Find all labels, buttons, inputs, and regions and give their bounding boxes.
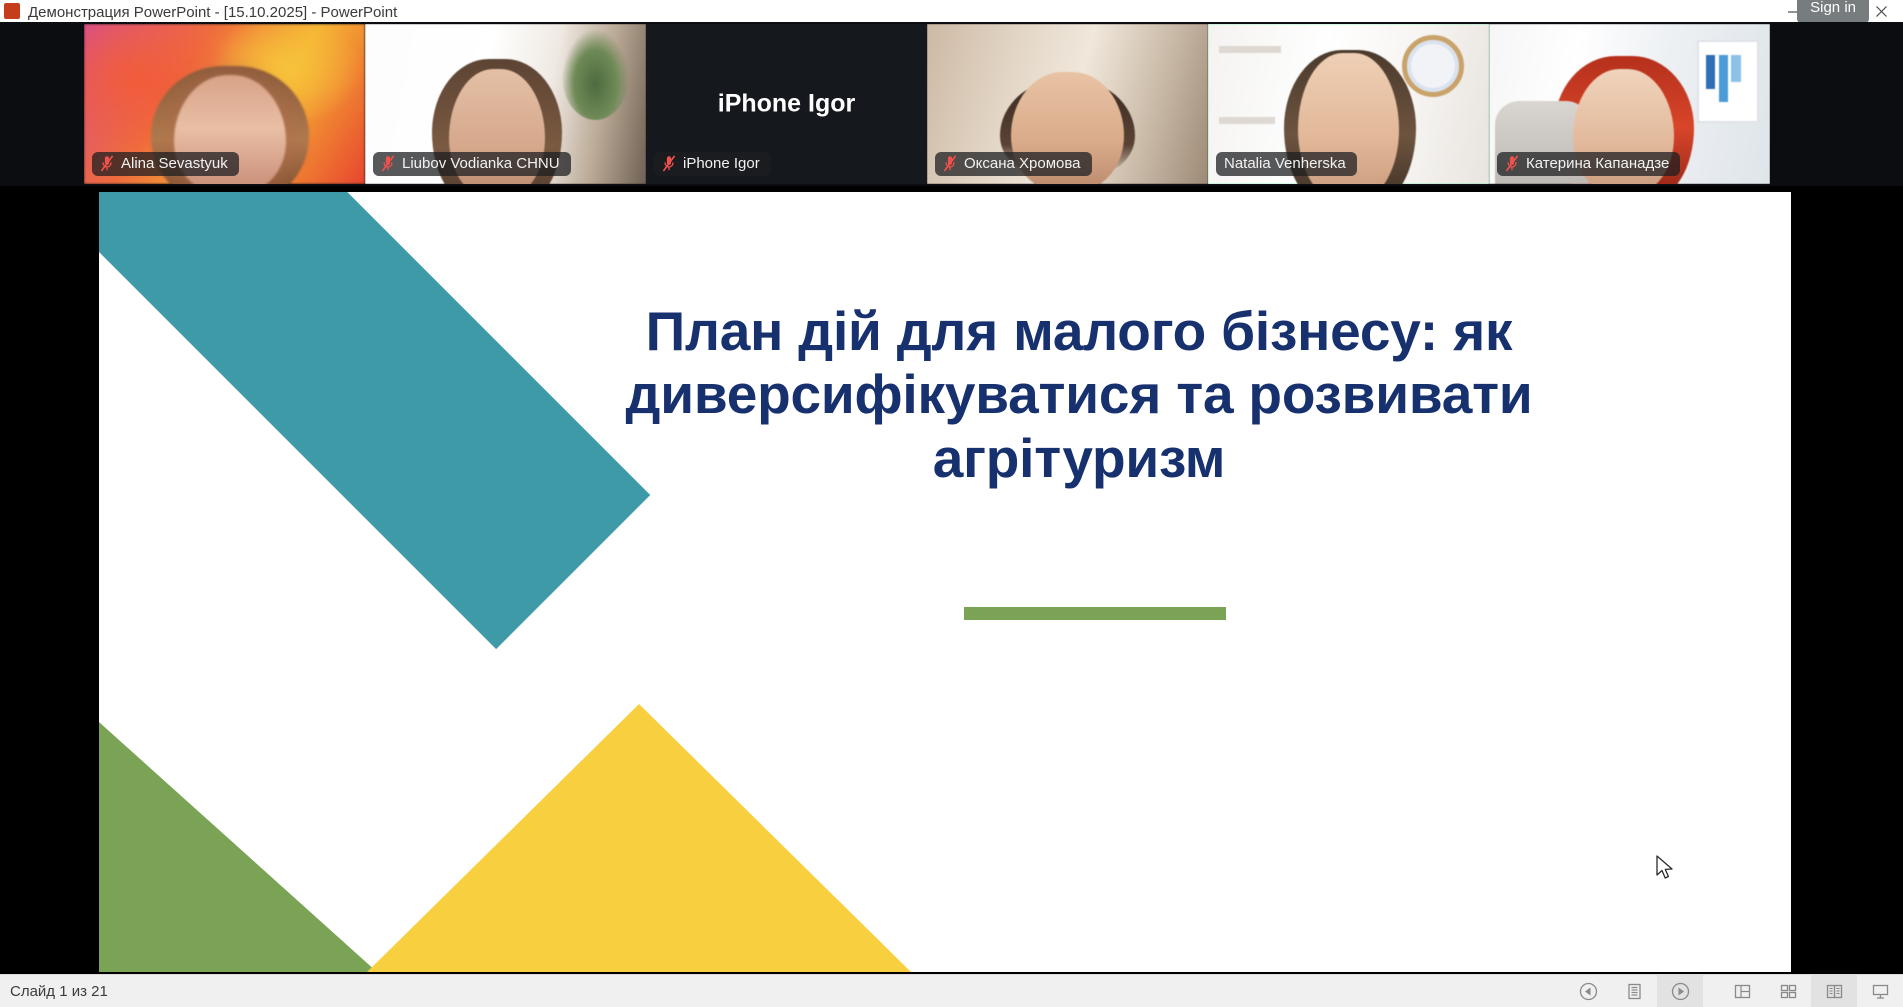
slide-counter: Слайд 1 из 21: [10, 983, 108, 1000]
title-bar: Демонстрация PowerPoint - [15.10.2025] -…: [0, 0, 1903, 22]
wall-clock-decor: [1402, 35, 1464, 97]
mic-muted-icon: [943, 155, 957, 172]
video-tile-alina-sevastyuk[interactable]: Alina Sevastyuk: [84, 24, 365, 184]
camera-off-name: iPhone Igor: [646, 90, 927, 119]
participant-name: Оксана Хромова: [964, 155, 1081, 172]
decor: [1219, 117, 1275, 124]
participant-name-badge: Liubov Vodianka CHNU: [373, 152, 571, 176]
video-participant-strip: Alina Sevastyuk Liubov Vodianka CHNU: [0, 22, 1903, 186]
reading-view-button[interactable]: [1811, 975, 1857, 1007]
powerpoint-app-icon: [4, 3, 20, 19]
video-tile-iphone-igor[interactable]: iPhone Igor iPhone Igor: [646, 24, 927, 184]
decor: [1697, 40, 1759, 123]
normal-view-icon: [1733, 982, 1752, 1001]
participant-name-badge: Оксана Хромова: [935, 152, 1092, 176]
participant-name-badge: Natalia Venherska: [1216, 152, 1357, 176]
video-tile-oksana-khromova[interactable]: Оксана Хромова: [927, 24, 1208, 184]
slide-canvas[interactable]: План дій для малого бізнесу: як диверсиф…: [99, 192, 1791, 972]
chevron-right-circle-icon: [1671, 982, 1690, 1001]
title-divider-rule: [964, 607, 1226, 620]
notes-button[interactable]: [1611, 975, 1657, 1007]
video-tile-kateryna-kapanadze[interactable]: Катерина Капанадзе: [1489, 24, 1770, 184]
mic-muted-icon: [1505, 155, 1519, 172]
participant-name: Alina Sevastyuk: [121, 155, 228, 172]
slide-title: План дій для малого бізнесу: як диверсиф…: [519, 300, 1639, 490]
chevron-left-circle-icon: [1579, 982, 1598, 1001]
video-tile-natalia-venherska[interactable]: Natalia Venherska: [1208, 24, 1489, 184]
decor: [562, 30, 629, 120]
green-triangle-shape: [99, 722, 377, 972]
participant-name-badge: Катерина Капанадзе: [1497, 152, 1680, 176]
participant-name: Liubov Vodianka CHNU: [402, 155, 560, 172]
mic-muted-icon: [662, 155, 676, 172]
powerpoint-slideshow-window: Демонстрация PowerPoint - [15.10.2025] -…: [0, 0, 1903, 1007]
notes-icon: [1625, 982, 1644, 1001]
window-title: Демонстрация PowerPoint - [15.10.2025] -…: [28, 4, 397, 21]
slide-sorter-icon: [1779, 982, 1798, 1001]
yellow-triangle-shape: [367, 704, 911, 972]
participant-name-badge: iPhone Igor: [654, 152, 771, 176]
participant-name: Катерина Капанадзе: [1526, 155, 1669, 172]
decor: [1219, 46, 1281, 53]
slide-sorter-button[interactable]: [1765, 975, 1811, 1007]
next-slide-button[interactable]: [1657, 975, 1703, 1007]
normal-view-button[interactable]: [1719, 975, 1765, 1007]
participant-name: Natalia Venherska: [1224, 155, 1346, 172]
status-bar-tools: [1565, 975, 1903, 1007]
status-bar: Слайд 1 из 21: [0, 974, 1903, 1007]
slideshow-icon: [1871, 982, 1890, 1001]
mic-muted-icon: [100, 155, 114, 172]
slideshow-button[interactable]: [1857, 975, 1903, 1007]
reading-view-icon: [1825, 982, 1844, 1001]
participant-name: iPhone Igor: [683, 155, 760, 172]
video-tile-liubov-vodianka-chnu[interactable]: Liubov Vodianka CHNU: [365, 24, 646, 184]
mic-muted-icon: [381, 155, 395, 172]
previous-slide-button[interactable]: [1565, 975, 1611, 1007]
participant-name-badge: Alina Sevastyuk: [92, 152, 239, 176]
sign-in-button[interactable]: Sign in: [1797, 0, 1869, 22]
